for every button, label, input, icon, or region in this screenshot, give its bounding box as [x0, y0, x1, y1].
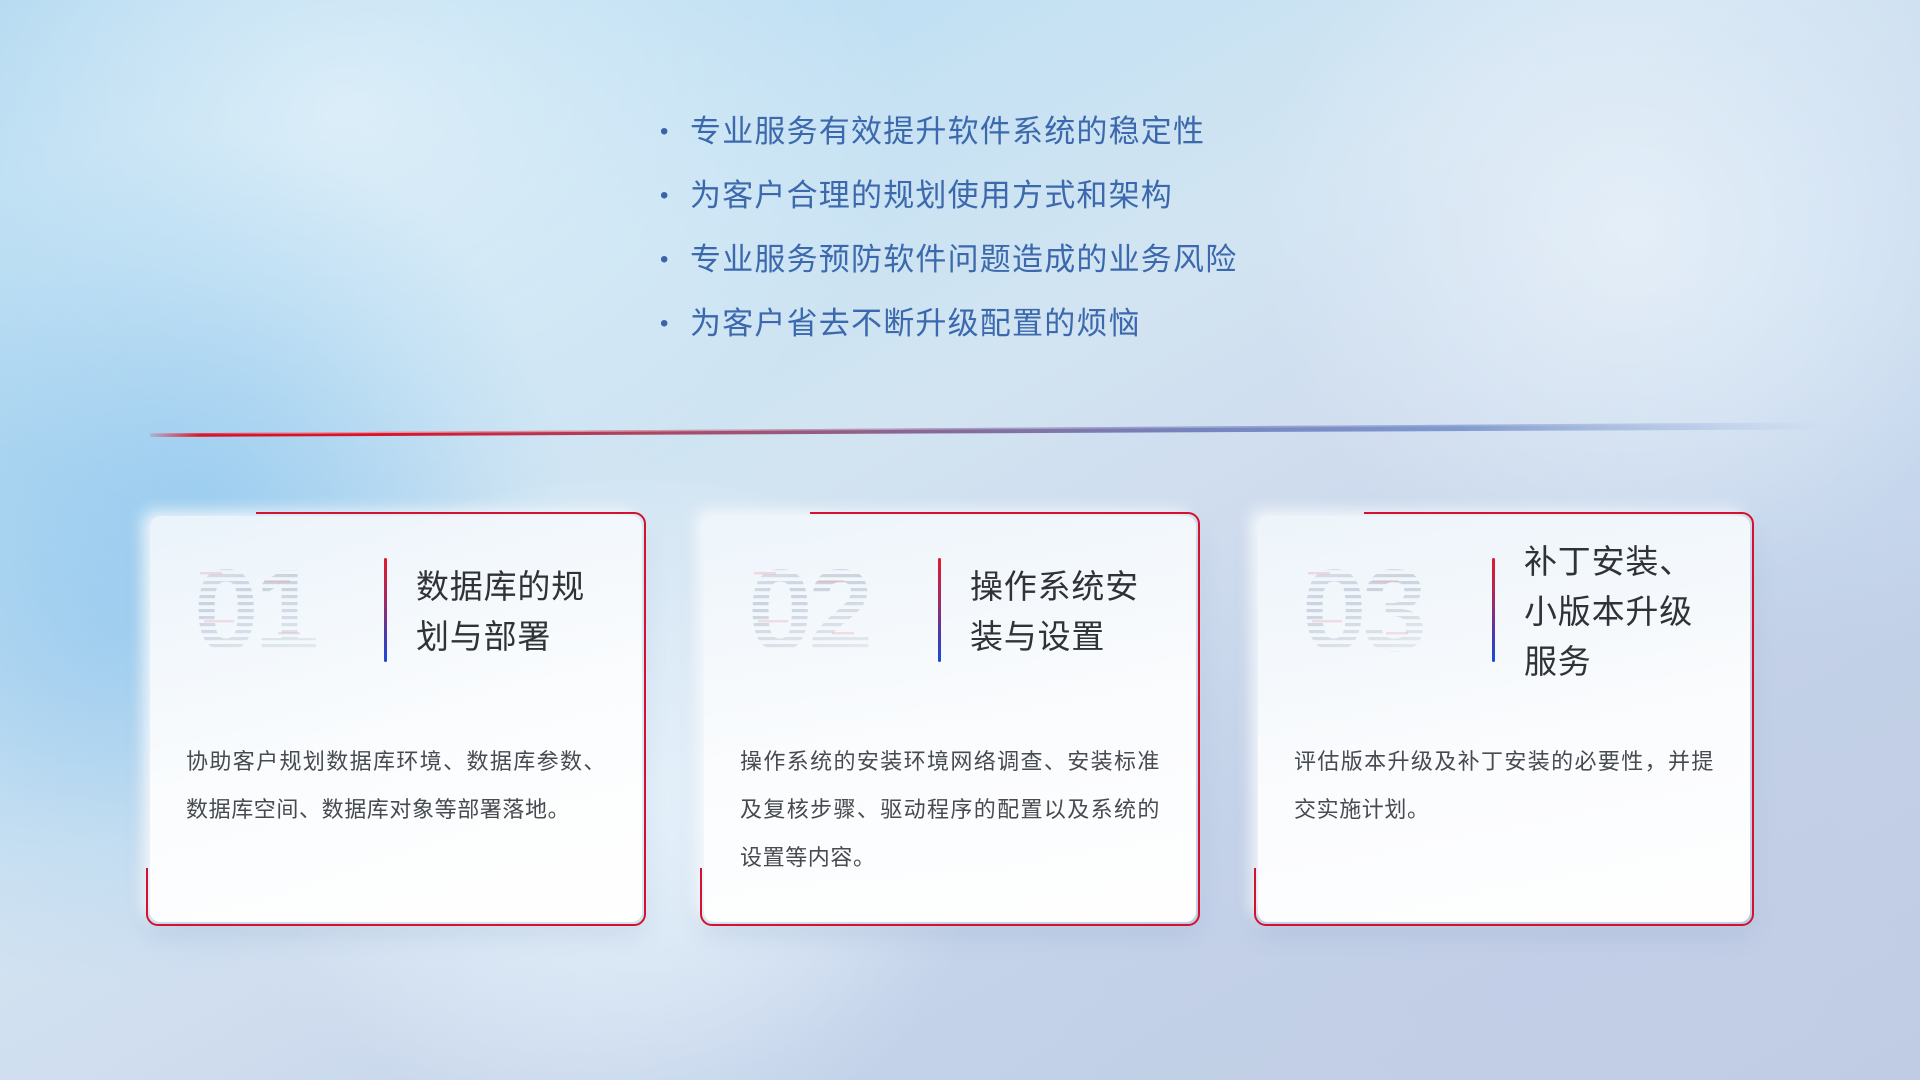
bullet-text: 专业服务有效提升软件系统的稳定性 [690, 112, 1205, 152]
list-item: • 为客户省去不断升级配置的烦恼 [660, 304, 1560, 368]
card-header: 03 补丁安装、小版本升级服务 [1294, 550, 1714, 674]
svg-text:01: 01 [194, 546, 317, 670]
service-card-group: 01 数据库的规划与部署 协助客户规划数据库环境、数据库参数、数据库空间、数据库… [150, 516, 1850, 922]
service-card-02[interactable]: 02 操作系统安装与设置 操作系统的安装环境网络调查、安装标准及复核步骤、驱动程… [704, 516, 1196, 922]
card-accent-bar [1492, 558, 1495, 662]
card-number-02-icon: 02 [748, 546, 894, 670]
section-divider [150, 418, 1830, 440]
bullet-text: 为客户省去不断升级配置的烦恼 [690, 304, 1141, 344]
service-card-01[interactable]: 01 数据库的规划与部署 协助客户规划数据库环境、数据库参数、数据库空间、数据库… [150, 516, 642, 922]
card-body-text: 评估版本升级及补丁安装的必要性，并提交实施计划。 [1294, 738, 1714, 834]
bullet-list: • 专业服务有效提升软件系统的稳定性 • 为客户合理的规划使用方式和架构 • 专… [660, 112, 1560, 368]
list-item: • 为客户合理的规划使用方式和架构 [660, 176, 1560, 240]
bullet-text: 专业服务预防软件问题造成的业务风险 [690, 240, 1237, 280]
svg-text:02: 02 [748, 546, 869, 670]
bullet-text: 为客户合理的规划使用方式和架构 [690, 176, 1173, 216]
bullet-dot-icon: • [660, 304, 690, 344]
bullet-dot-icon: • [660, 240, 690, 280]
card-title: 操作系统安装与设置 [970, 562, 1160, 662]
service-card-03[interactable]: 03 补丁安装、小版本升级服务 评估版本升级及补丁安装的必要性，并提交实施计划。 [1258, 516, 1750, 922]
svg-text:03: 03 [1302, 546, 1424, 670]
card-title: 补丁安装、小版本升级服务 [1524, 537, 1714, 687]
card-number-01-icon: 01 [194, 546, 340, 670]
card-accent-bar [938, 558, 941, 662]
card-accent-bar [384, 558, 387, 662]
slide-canvas: • 专业服务有效提升软件系统的稳定性 • 为客户合理的规划使用方式和架构 • 专… [0, 0, 1920, 1080]
bullet-dot-icon: • [660, 176, 690, 216]
card-header: 01 数据库的规划与部署 [186, 550, 606, 674]
bullet-dot-icon: • [660, 112, 690, 152]
card-title: 数据库的规划与部署 [416, 562, 606, 662]
card-body-text: 操作系统的安装环境网络调查、安装标准及复核步骤、驱动程序的配置以及系统的设置等内… [740, 738, 1160, 882]
card-header: 02 操作系统安装与设置 [740, 550, 1160, 674]
list-item: • 专业服务预防软件问题造成的业务风险 [660, 240, 1560, 304]
card-number-03-icon: 03 [1302, 546, 1448, 670]
card-body-text: 协助客户规划数据库环境、数据库参数、数据库空间、数据库对象等部署落地。 [186, 738, 606, 834]
list-item: • 专业服务有效提升软件系统的稳定性 [660, 112, 1560, 176]
